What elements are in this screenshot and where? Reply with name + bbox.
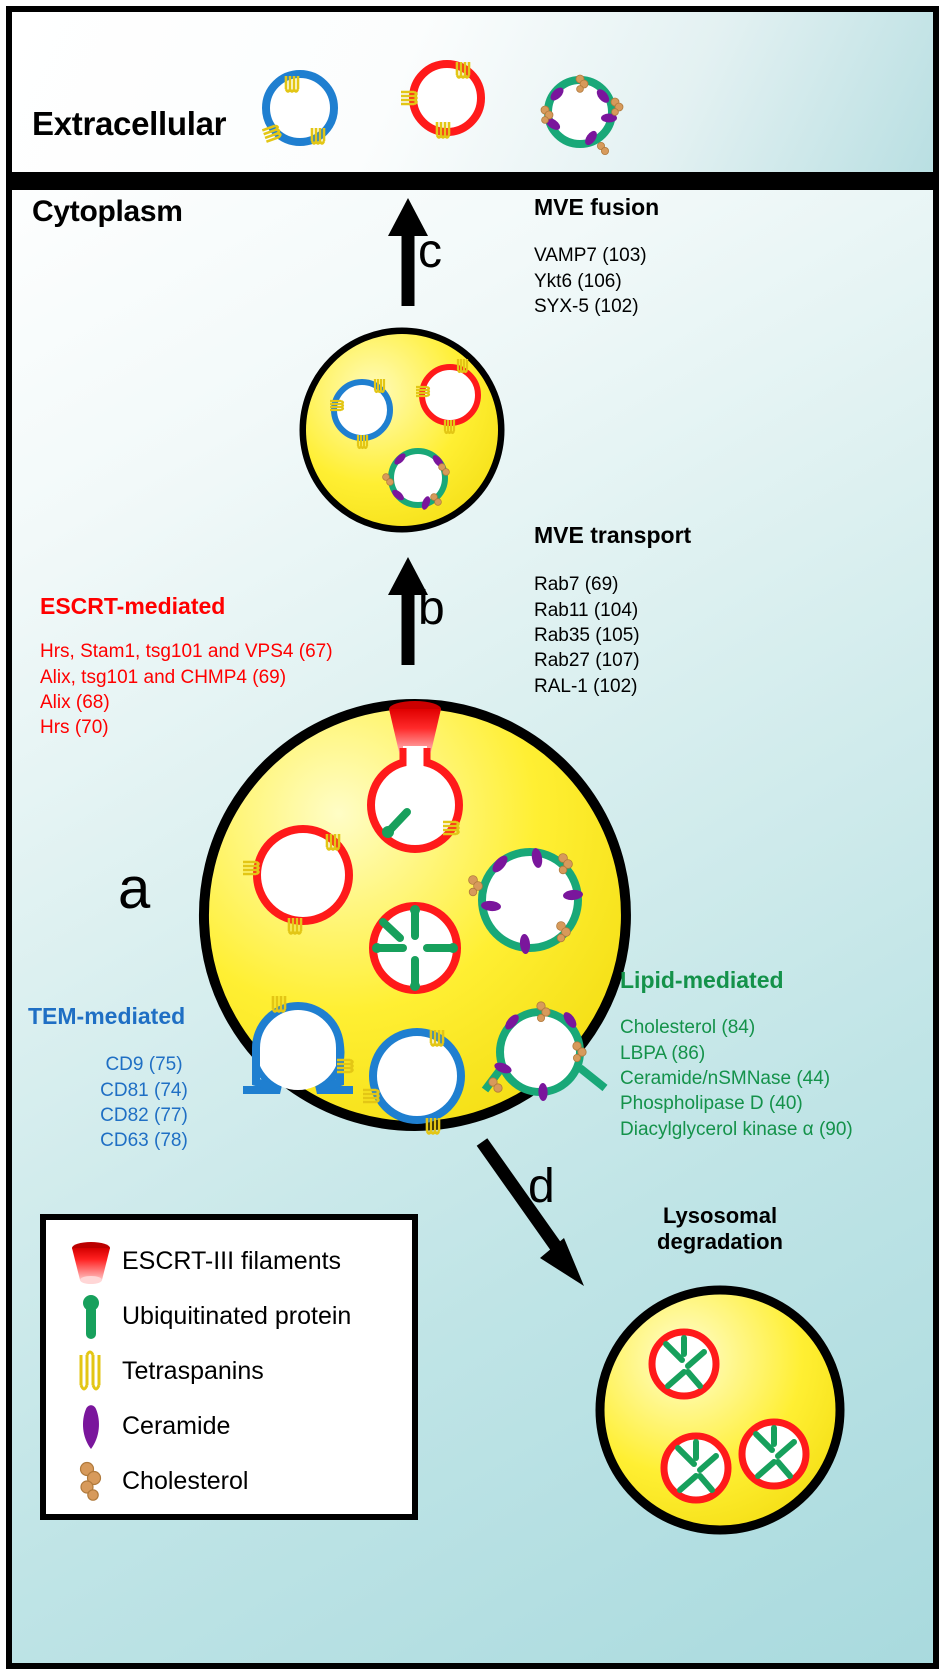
figure-root: Extracellular Cytoplasm c MVE fusion VAM… bbox=[0, 0, 945, 1675]
figure-border bbox=[6, 6, 939, 1669]
